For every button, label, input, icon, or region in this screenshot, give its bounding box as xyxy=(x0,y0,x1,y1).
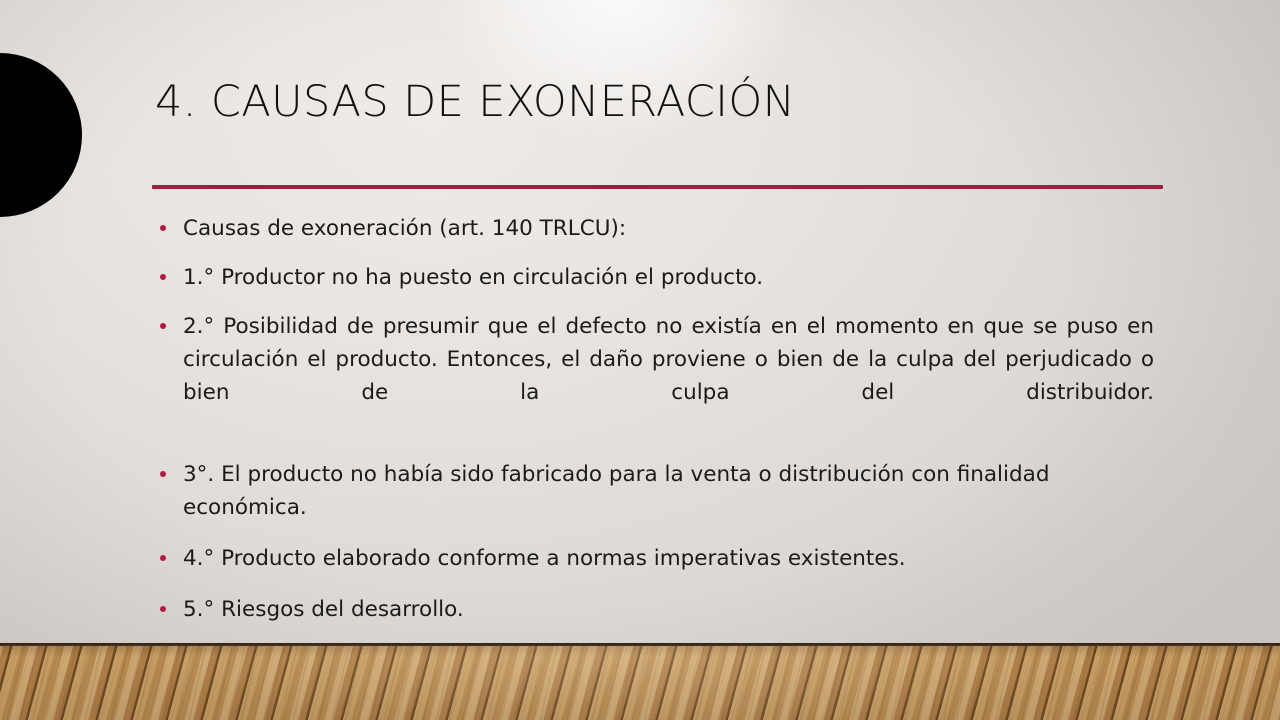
wood-floor xyxy=(0,643,1280,720)
list-item: Causas de exoneración (art. 140 TRLCU): xyxy=(152,212,1154,245)
bullet-dot-icon xyxy=(160,555,166,561)
list-item-text: 5.° Riesgos del desarrollo. xyxy=(183,593,1154,626)
wood-grain xyxy=(0,643,1280,720)
list-item-text: Causas de exoneración (art. 140 TRLCU): xyxy=(183,212,1154,245)
list-item: 1.° Productor no ha puesto en circulació… xyxy=(152,261,1154,294)
list-item: 2.° Posibilidad de presumir que el defec… xyxy=(152,310,1154,442)
wood-floor-top-edge xyxy=(0,643,1280,646)
list-item: 4.° Producto elaborado conforme a normas… xyxy=(152,542,1154,575)
bullet-dot-icon xyxy=(160,274,166,280)
bullet-dot-icon xyxy=(160,471,166,477)
bullet-list: Causas de exoneración (art. 140 TRLCU): … xyxy=(152,212,1154,640)
slide-canvas: 4. CAUSAS DE EXONERACIÓN Causas de exone… xyxy=(0,0,1280,720)
list-item: 5.° Riesgos del desarrollo. xyxy=(152,593,1154,626)
list-item-text: 3°. El producto no había sido fabricado … xyxy=(183,458,1154,524)
bullet-dot-icon xyxy=(160,225,166,231)
slide-title: 4. CAUSAS DE EXONERACIÓN xyxy=(155,78,1165,126)
list-item-text: 4.° Producto elaborado conforme a normas… xyxy=(183,542,1154,575)
list-item-text: 1.° Productor no ha puesto en circulació… xyxy=(183,261,1154,294)
bullet-dot-icon xyxy=(160,606,166,612)
bullet-dot-icon xyxy=(160,323,166,329)
accent-divider-rule xyxy=(152,185,1163,189)
list-item: 3°. El producto no había sido fabricado … xyxy=(152,458,1154,524)
list-item-text: 2.° Posibilidad de presumir que el defec… xyxy=(183,310,1154,442)
